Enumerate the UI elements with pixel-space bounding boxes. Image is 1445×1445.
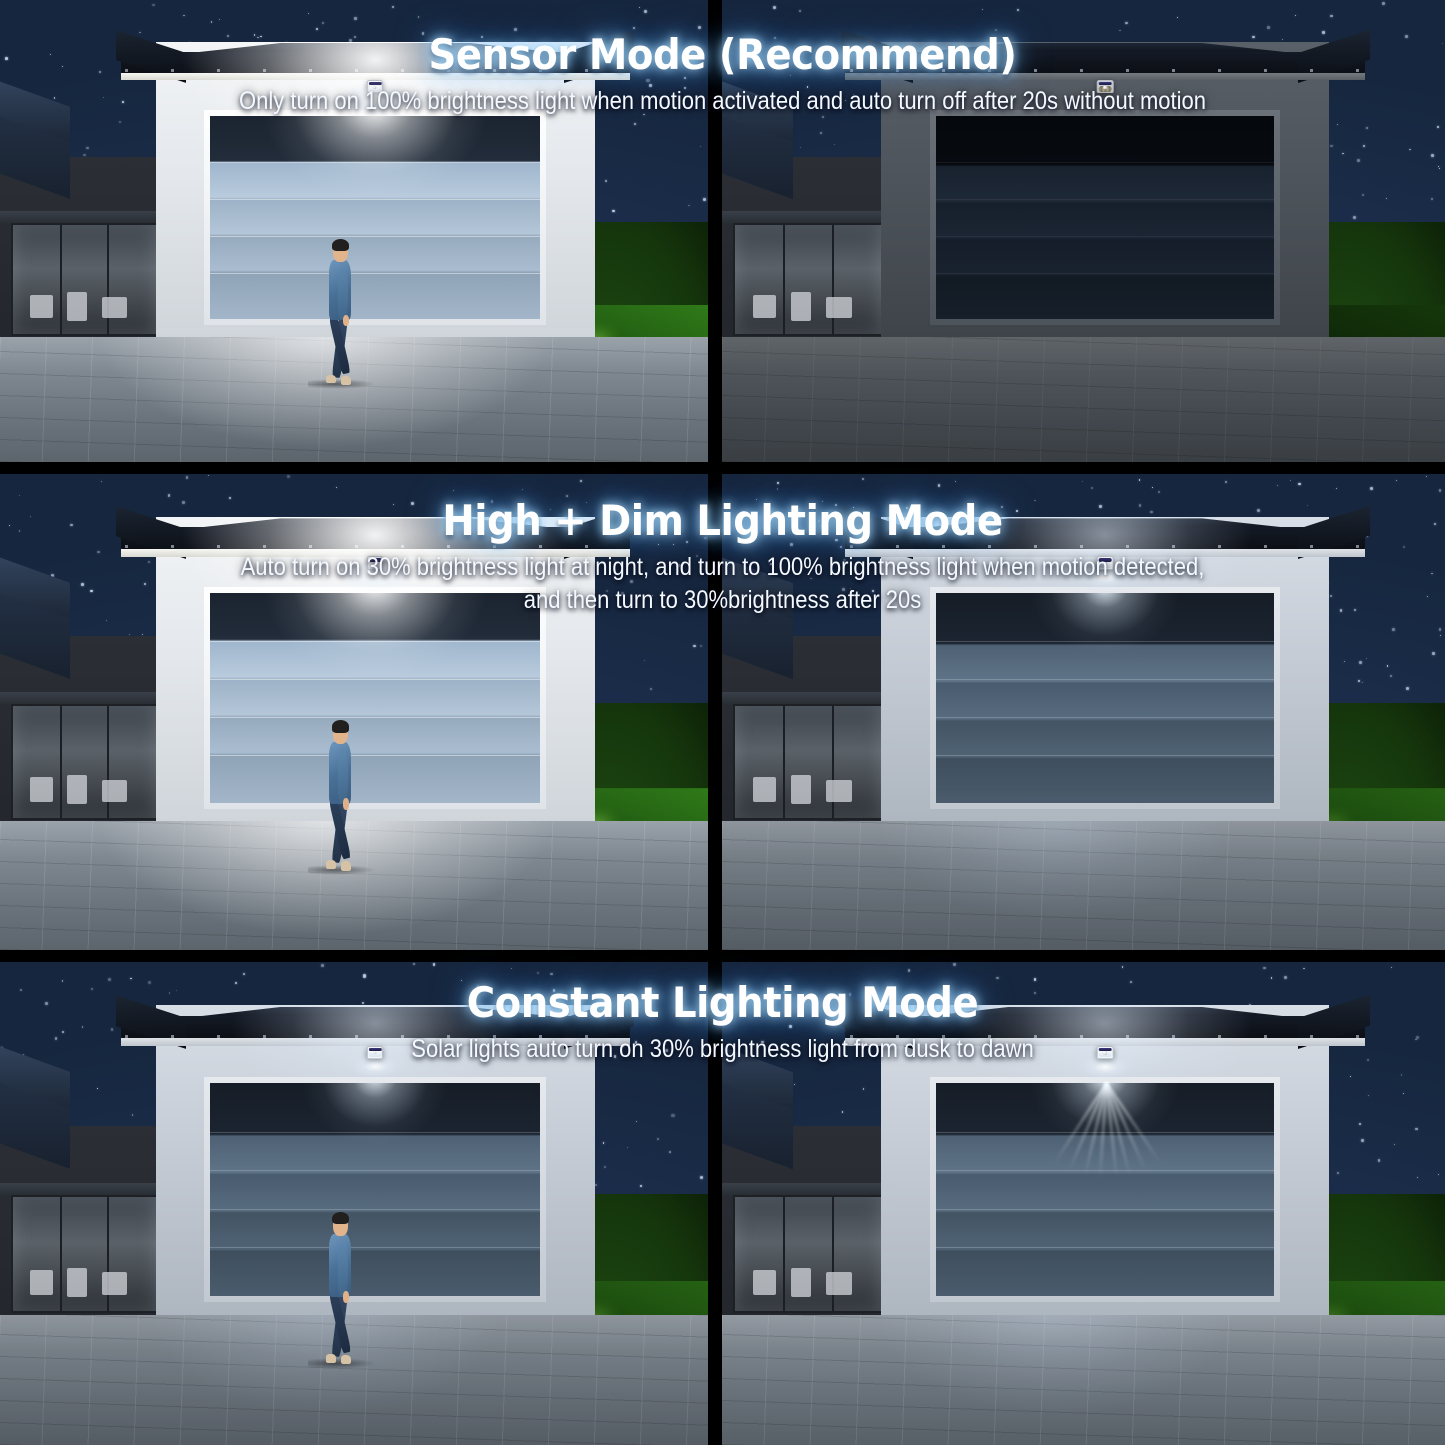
walking-person-icon bbox=[326, 1213, 356, 1363]
garage-door-frame bbox=[204, 1077, 546, 1303]
garage-door-panel-lines bbox=[210, 116, 540, 320]
panel-constant-dusk-to-dawn-right bbox=[722, 962, 1445, 1445]
fixture-body bbox=[1097, 80, 1114, 93]
garage-door bbox=[210, 593, 540, 803]
garage-door bbox=[210, 1083, 540, 1297]
garage-door-panel-lines bbox=[210, 593, 540, 803]
driveway bbox=[722, 337, 1445, 462]
garage-facade bbox=[156, 42, 595, 338]
garage-door bbox=[210, 116, 540, 320]
neighbor-house bbox=[722, 636, 906, 836]
neighbor-house bbox=[722, 1126, 906, 1329]
scene-garage-dim bbox=[722, 962, 1445, 1445]
panel-sensor-mode-no-motion-off bbox=[722, 0, 1445, 462]
panel-high-dim-standby-30 bbox=[722, 474, 1445, 950]
garage-facade bbox=[156, 517, 595, 822]
garage-door-frame bbox=[930, 110, 1280, 326]
scene-garage-lit bbox=[0, 0, 708, 462]
garage-door bbox=[936, 593, 1274, 803]
garage-door-panel-lines bbox=[936, 116, 1274, 320]
solar-wall-light-icon bbox=[367, 1046, 383, 1059]
garage-door-frame bbox=[204, 110, 546, 326]
scene-garage-lit bbox=[0, 474, 708, 950]
driveway-light-pool bbox=[823, 821, 1286, 950]
panel-divider-vertical bbox=[708, 474, 722, 950]
driveway bbox=[722, 821, 1445, 950]
garage-door bbox=[936, 1083, 1274, 1297]
solar-wall-light-icon bbox=[1097, 1046, 1114, 1059]
section-sensor-mode: Sensor Mode (Recommend) Only turn on 100… bbox=[0, 0, 1445, 462]
section-divider-1 bbox=[0, 462, 1445, 474]
garage-door-frame bbox=[930, 587, 1280, 809]
neighbor-window bbox=[11, 223, 158, 336]
walking-person-icon bbox=[326, 240, 356, 383]
scene-garage-dark bbox=[722, 0, 1445, 462]
garage-door-frame bbox=[930, 1077, 1280, 1303]
solar-wall-light-icon bbox=[1097, 80, 1114, 93]
fixture-body bbox=[367, 1046, 383, 1059]
fixture-body bbox=[367, 80, 383, 93]
solar-wall-light-icon bbox=[367, 80, 383, 93]
garage-facade bbox=[881, 517, 1329, 822]
panel-sensor-mode-motion-on bbox=[0, 0, 708, 462]
neighbor-house bbox=[722, 157, 906, 351]
section-constant-lighting-mode: Constant Lighting Mode Solar lights auto… bbox=[0, 962, 1445, 1445]
neighbor-window bbox=[733, 1195, 883, 1313]
panel-high-dim-motion-100 bbox=[0, 474, 708, 950]
panel-divider-vertical bbox=[708, 0, 722, 462]
neighbor-house bbox=[0, 636, 180, 836]
driveway bbox=[722, 1315, 1445, 1445]
fixture-body bbox=[367, 556, 383, 569]
section-high-dim-lighting-mode: High + Dim Lighting Mode Auto turn on 30… bbox=[0, 474, 1445, 950]
panel-constant-dusk-to-dawn-left bbox=[0, 962, 708, 1445]
garage-door-frame bbox=[204, 587, 546, 809]
panel-divider-vertical bbox=[708, 962, 722, 1445]
neighbor-house bbox=[0, 157, 180, 351]
scene-garage-dim bbox=[0, 962, 708, 1445]
section-divider-2 bbox=[0, 950, 1445, 962]
fixture-body bbox=[1097, 556, 1114, 569]
neighbor-window bbox=[11, 704, 158, 820]
fixture-body bbox=[1097, 1046, 1114, 1059]
neighbor-window bbox=[11, 1195, 158, 1313]
garage-facade bbox=[881, 1005, 1329, 1314]
garage-door-panel-lines bbox=[936, 593, 1274, 803]
scene-garage-dim bbox=[722, 474, 1445, 950]
garage-door bbox=[936, 116, 1274, 320]
solar-wall-light-icon bbox=[1097, 556, 1114, 569]
driveway-light-pool bbox=[823, 1315, 1286, 1445]
neighbor-window bbox=[733, 704, 883, 820]
garage-door-panel-lines bbox=[210, 1083, 540, 1297]
driveway-light-pool bbox=[823, 337, 1286, 462]
garage-door-panel-lines bbox=[936, 1083, 1274, 1297]
solar-wall-light-icon bbox=[367, 556, 383, 569]
neighbor-window bbox=[733, 223, 883, 336]
walking-person-icon bbox=[326, 722, 356, 870]
garage-facade bbox=[881, 42, 1329, 338]
garage-facade bbox=[156, 1005, 595, 1314]
modes-infographic: Sensor Mode (Recommend) Only turn on 100… bbox=[0, 0, 1445, 1445]
neighbor-house bbox=[0, 1126, 180, 1329]
